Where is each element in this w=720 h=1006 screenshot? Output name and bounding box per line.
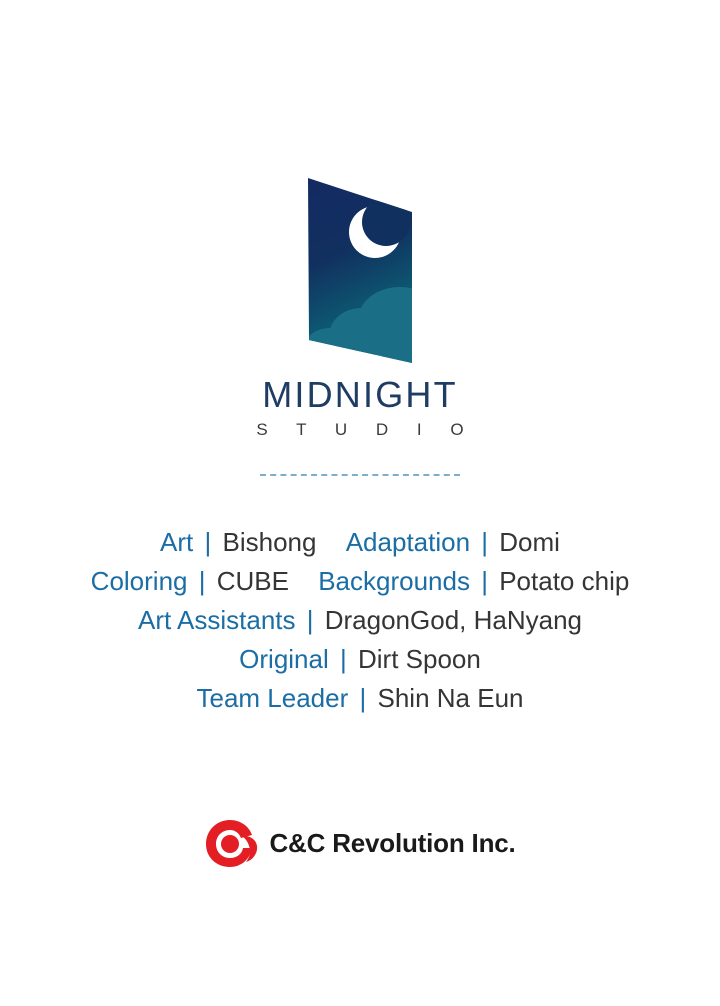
credit-line: Art Assistants | DragonGod, HaNyang [0,601,720,640]
credit-separator: | [336,644,351,674]
credit-entry: Original | Dirt Spoon [239,644,481,674]
credit-role: Team Leader [197,683,349,713]
credit-entry: Adaptation | Domi [346,527,560,557]
credit-separator: | [477,527,492,557]
credit-name: Potato chip [499,566,629,596]
credit-entry: Backgrounds | Potato chip [318,566,629,596]
credit-entry: Team Leader | Shin Na Eun [197,683,524,713]
credit-role: Original [239,644,329,674]
credit-separator: | [303,605,318,635]
credit-separator: | [195,566,210,596]
credits-page: MIDNIGHT S T U D I O Art | Bishong Adapt… [0,0,720,1006]
publisher-logo: C&C Revolution Inc. [0,818,720,868]
credit-role: Coloring [91,566,188,596]
credit-line: Team Leader | Shin Na Eun [0,679,720,718]
credit-entry: Art | Bishong [160,527,324,557]
credit-entry: Coloring | CUBE [91,566,297,596]
credit-line: Art | Bishong Adaptation | Domi [0,523,720,562]
studio-name-sub: S T U D I O [0,421,720,440]
dashed-divider [260,474,460,476]
credit-separator: | [201,527,216,557]
cc-revolution-c-mark-icon [204,818,260,868]
credit-name: DragonGod, HaNyang [325,605,582,635]
credit-name: CUBE [217,566,289,596]
credit-name: Domi [499,527,560,557]
credits-list: Art | Bishong Adaptation | Domi Coloring… [0,523,720,718]
credit-role: Adaptation [346,527,470,557]
publisher-name: C&C Revolution Inc. [269,830,515,856]
credit-name: Dirt Spoon [358,644,481,674]
studio-wordmark: MIDNIGHT S T U D I O [0,376,720,439]
credit-separator: | [356,683,371,713]
credit-role: Art Assistants [138,605,296,635]
studio-name-main: MIDNIGHT [0,376,720,414]
credit-separator: | [477,566,492,596]
credit-name: Shin Na Eun [378,683,524,713]
credit-role: Art [160,527,193,557]
midnight-studio-logo [296,170,426,375]
credit-line: Coloring | CUBE Backgrounds | Potato chi… [0,562,720,601]
credit-name: Bishong [223,527,317,557]
credit-line: Original | Dirt Spoon [0,640,720,679]
credit-entry: Art Assistants | DragonGod, HaNyang [138,605,582,635]
credit-role: Backgrounds [318,566,470,596]
